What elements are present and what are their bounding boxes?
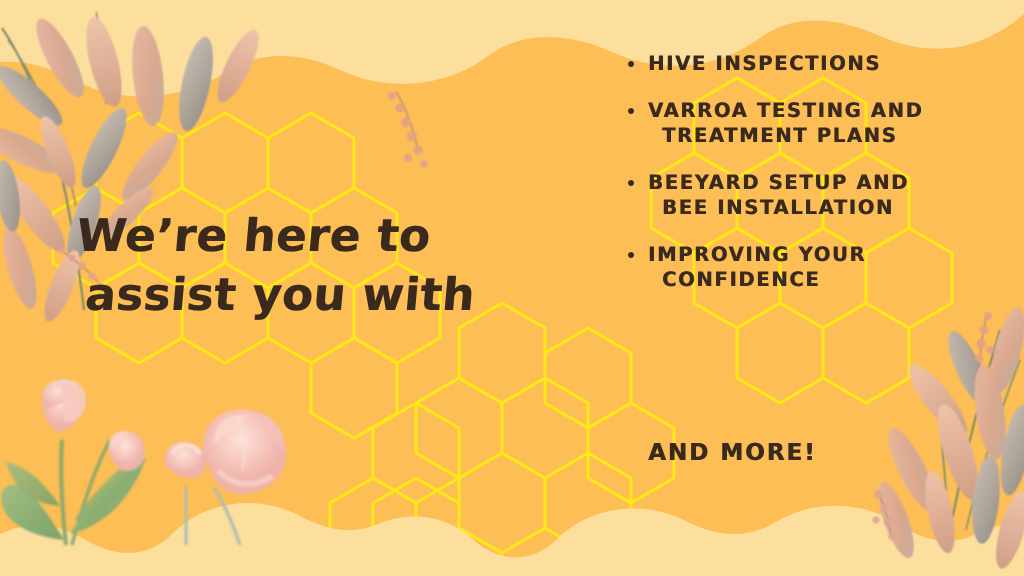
list-item: Hive inspections bbox=[626, 52, 956, 77]
list-item-line: Beeyard setup and bbox=[648, 171, 956, 196]
list-item-line: Varroa testing and bbox=[648, 99, 956, 124]
list-item-line: Improving your bbox=[648, 243, 956, 268]
bullet-dot-icon bbox=[628, 180, 634, 186]
closing-text: And more! bbox=[648, 440, 817, 466]
headline: We’re here to assist you with bbox=[69, 206, 509, 325]
headline-line-2: assist you with bbox=[69, 265, 504, 324]
list-item: Varroa testing and treatment plans bbox=[626, 99, 956, 149]
list-item: Improving your confidence bbox=[626, 243, 956, 293]
list-item-line: bee installation bbox=[648, 196, 956, 221]
list-item-line: confidence bbox=[648, 268, 956, 293]
headline-line-1: We’re here to bbox=[74, 206, 509, 265]
service-list: Hive inspections Varroa testing and trea… bbox=[626, 52, 956, 315]
bullet-dot-icon bbox=[628, 252, 634, 258]
bullet-dot-icon bbox=[628, 108, 634, 114]
list-item-line: treatment plans bbox=[648, 124, 956, 149]
list-item: Beeyard setup and bee installation bbox=[626, 171, 956, 221]
slide-canvas: We’re here to assist you with Hive inspe… bbox=[0, 0, 1024, 576]
list-item-line: Hive inspections bbox=[648, 52, 956, 77]
bullet-dot-icon bbox=[628, 61, 634, 67]
